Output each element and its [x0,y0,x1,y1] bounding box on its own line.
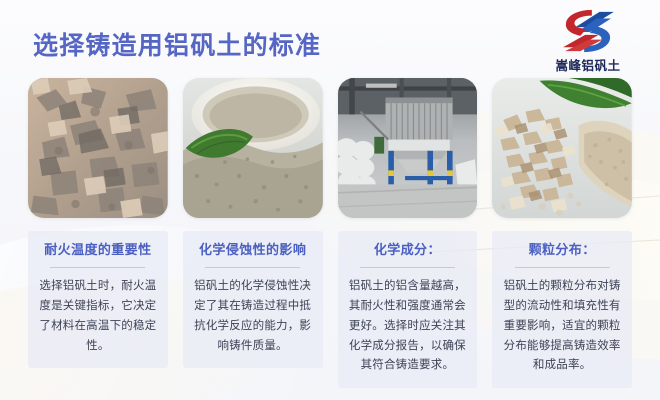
info-card-3-body: 铝矾土的铝含量越高，其耐火性和强度通常会更好。选择时应关注其化学成分报告，以确保… [347,277,469,376]
bauxite-granules-powder-photo [492,78,632,218]
page-title: 选择铸造用铝矾土的标准 [33,26,321,62]
content-column-2: 化学侵蚀性的影响 铝矾土的化学侵蚀性决定了其在铸造过程中抵抗化学反应的能力，影响… [183,78,323,388]
info-card-1: 耐火温度的重要性 选择铝矾土时，耐火温度是关键指标，它决定了材料在高温下的稳定性… [28,231,168,368]
content-columns: 耐火温度的重要性 选择铝矾土时，耐火温度是关键指标，它决定了材料在高温下的稳定性… [28,78,632,388]
page-header: 选择铸造用铝矾土的标准 嵩峰铝矾土 [0,0,660,76]
logo-wordmark: 嵩峰铝矾土 [555,55,620,74]
bauxite-powder-bowl-photo [183,78,323,218]
info-card-3: 化学成分： 铝矾土的铝含量越高，其耐火性和强度通常会更好。选择时应关注其化学成分… [338,231,478,388]
info-card-2: 化学侵蚀性的影响 铝矾土的化学侵蚀性决定了其在铸造过程中抵抗化学反应的能力，影响… [183,231,323,368]
info-card-1-divider [50,267,145,268]
info-card-4: 颗粒分布： 铝矾土的颗粒分布对铸型的流动性和填充性有重要影响，适宜的颗粒分布能够… [492,231,632,388]
info-card-4-title: 颗粒分布： [501,242,623,258]
bauxite-raw-ore-photo [28,78,168,218]
factory-equipment-photo [338,78,478,218]
logo-s-mark-icon [559,8,617,54]
info-card-2-divider [205,267,300,268]
content-column-1: 耐火温度的重要性 选择铝矾土时，耐火温度是关键指标，它决定了材料在高温下的稳定性… [28,78,168,388]
info-card-1-body: 选择铝矾土时，耐火温度是关键指标，它决定了材料在高温下的稳定性。 [37,277,159,356]
info-card-4-divider [515,267,610,268]
brand-logo: 嵩峰铝矾土 [530,8,646,74]
info-card-3-title: 化学成分： [347,242,469,258]
info-card-1-title: 耐火温度的重要性 [37,242,159,258]
info-card-2-title: 化学侵蚀性的影响 [192,242,314,258]
info-card-2-body: 铝矾土的化学侵蚀性决定了其在铸造过程中抵抗化学反应的能力，影响铸件质量。 [192,277,314,356]
info-card-3-divider [360,267,455,268]
info-card-4-body: 铝矾土的颗粒分布对铸型的流动性和填充性有重要影响，适宜的颗粒分布能够提高铸造效率… [501,277,623,376]
content-column-4: 颗粒分布： 铝矾土的颗粒分布对铸型的流动性和填充性有重要影响，适宜的颗粒分布能够… [492,78,632,388]
content-column-3: 化学成分： 铝矾土的铝含量越高，其耐火性和强度通常会更好。选择时应关注其化学成分… [338,78,478,388]
